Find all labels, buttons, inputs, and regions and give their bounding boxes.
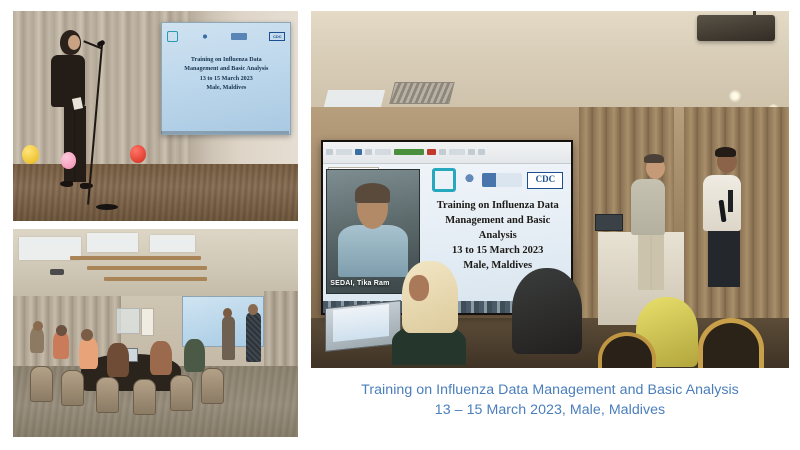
banquet-chair bbox=[201, 368, 224, 404]
photo-workshop-room bbox=[13, 229, 298, 437]
ribbon-button-icon bbox=[375, 149, 391, 155]
balloon-pink bbox=[61, 152, 76, 169]
ceiling-downlight bbox=[729, 90, 741, 102]
powerpoint-ribbon-toolbar bbox=[323, 142, 572, 164]
photo-training-session: SEDAI, Tika Ram CDC Training on Influenz… bbox=[311, 11, 789, 368]
ribbon-button-icon bbox=[326, 149, 333, 155]
caption-line-1: Training on Influenza Data Management an… bbox=[311, 380, 789, 400]
ceiling-wood-slat bbox=[70, 256, 201, 260]
slide-line-3: 13 to 15 March 2023 bbox=[427, 243, 569, 258]
ribbon-button-icon bbox=[355, 149, 362, 155]
video-participant-name-label: SEDAI, Tika Ram bbox=[327, 279, 392, 288]
presenter-laptop bbox=[595, 214, 623, 231]
photo-main-scene: SEDAI, Tika Ram CDC Training on Influenz… bbox=[311, 11, 789, 368]
banquet-chair bbox=[170, 375, 193, 411]
balloon-yellow bbox=[22, 145, 39, 164]
participant-shirt bbox=[338, 225, 408, 277]
slide-text-block: Training on Influenza Data Management an… bbox=[167, 56, 285, 94]
speaker-shoe-left bbox=[60, 181, 73, 187]
partner-square-logo bbox=[432, 168, 456, 192]
ceiling-light-panel bbox=[87, 233, 138, 252]
seated-participant bbox=[184, 339, 205, 372]
speaker-b-legs bbox=[708, 229, 740, 287]
standing-facilitator-b bbox=[246, 312, 261, 362]
cdc-logo: CDC bbox=[269, 32, 285, 41]
ribbon-button-icon bbox=[365, 149, 372, 155]
poster-caption: Training on Influenza Data Management an… bbox=[311, 380, 789, 420]
ceiling-projector bbox=[50, 269, 64, 275]
carpet-floor bbox=[13, 164, 298, 221]
slide-line-2: Management and Basic Analysis bbox=[427, 213, 569, 243]
who-logo bbox=[231, 33, 247, 40]
speaker-b-hair bbox=[715, 147, 736, 157]
banquet-chair bbox=[30, 366, 53, 402]
flipchart-board bbox=[141, 308, 154, 336]
photo-speaker-scene: CDC Training on Influenza Data Managemen… bbox=[13, 11, 298, 221]
slide-logo-row: CDC bbox=[167, 28, 285, 46]
attendee-laptop-screen bbox=[333, 304, 389, 342]
ribbon-button-icon bbox=[449, 149, 465, 155]
banquet-chair bbox=[133, 379, 156, 415]
projection-screen: CDC Training on Influenza Data Managemen… bbox=[161, 22, 291, 135]
attendee-dark-hijab bbox=[512, 268, 582, 354]
un-emblem-logo bbox=[462, 171, 477, 189]
slide-line-2: Management and Basic Analysis bbox=[167, 65, 285, 74]
un-emblem-logo bbox=[201, 32, 209, 41]
speaker-notes-paper bbox=[72, 97, 83, 110]
slide-line-3: 13 to 15 March 2023 bbox=[167, 75, 285, 84]
ribbon-stop-share-icon bbox=[427, 149, 436, 155]
speaker-b-necktie bbox=[728, 190, 733, 212]
slide-line-4: Male, Maldives bbox=[167, 84, 285, 93]
partner-square-logo bbox=[167, 31, 178, 42]
ceiling-air-vent bbox=[390, 82, 455, 104]
facilitator-a-hair bbox=[644, 154, 664, 163]
speaker-legs bbox=[64, 106, 86, 182]
poster-page: CDC Training on Influenza Data Managemen… bbox=[0, 0, 800, 450]
glass-partition bbox=[116, 308, 140, 334]
participant-hair bbox=[355, 183, 390, 203]
caption-line-2: 13 – 15 March 2023, Male, Maldives bbox=[311, 400, 789, 420]
photo-opening-speaker: CDC Training on Influenza Data Managemen… bbox=[13, 11, 298, 221]
banquet-chair bbox=[61, 370, 84, 406]
banquet-chair bbox=[96, 377, 119, 413]
window-curtain-right bbox=[264, 291, 298, 370]
participant-head bbox=[33, 321, 43, 331]
ribbon-sharing-indicator bbox=[394, 149, 424, 155]
slide-logo-row: CDC bbox=[429, 169, 566, 191]
who-logo bbox=[482, 173, 522, 187]
attendee-face bbox=[409, 275, 429, 301]
participant-head bbox=[56, 325, 67, 336]
seated-participant bbox=[107, 343, 129, 377]
slide-text-block: Training on Influenza Data Management an… bbox=[427, 198, 569, 273]
slide-line-1: Training on Influenza Data bbox=[167, 56, 285, 65]
ribbon-button-icon bbox=[439, 149, 446, 155]
ribbon-button-icon bbox=[478, 149, 485, 155]
standing-facilitator-a bbox=[222, 316, 235, 360]
slide-line-1: Training on Influenza Data bbox=[427, 198, 569, 213]
facilitator-a-torso bbox=[631, 179, 665, 235]
ceiling-projector bbox=[697, 15, 775, 41]
seated-participant bbox=[79, 337, 98, 369]
seated-participant bbox=[150, 341, 172, 375]
photo-room-scene bbox=[13, 229, 298, 437]
facilitator-a-legs bbox=[638, 232, 664, 290]
screen-base-shadow bbox=[161, 131, 289, 134]
ribbon-button-icon bbox=[468, 149, 475, 155]
ceiling-wood-slat bbox=[104, 277, 207, 281]
ceiling-wood-slat bbox=[87, 266, 207, 270]
balloon-red bbox=[130, 145, 146, 163]
cdc-logo: CDC bbox=[527, 172, 563, 189]
ribbon-button-icon bbox=[336, 149, 352, 155]
seated-participant bbox=[30, 327, 44, 353]
ceiling-light-panel bbox=[150, 235, 196, 252]
facilitator-b-head bbox=[248, 304, 258, 315]
